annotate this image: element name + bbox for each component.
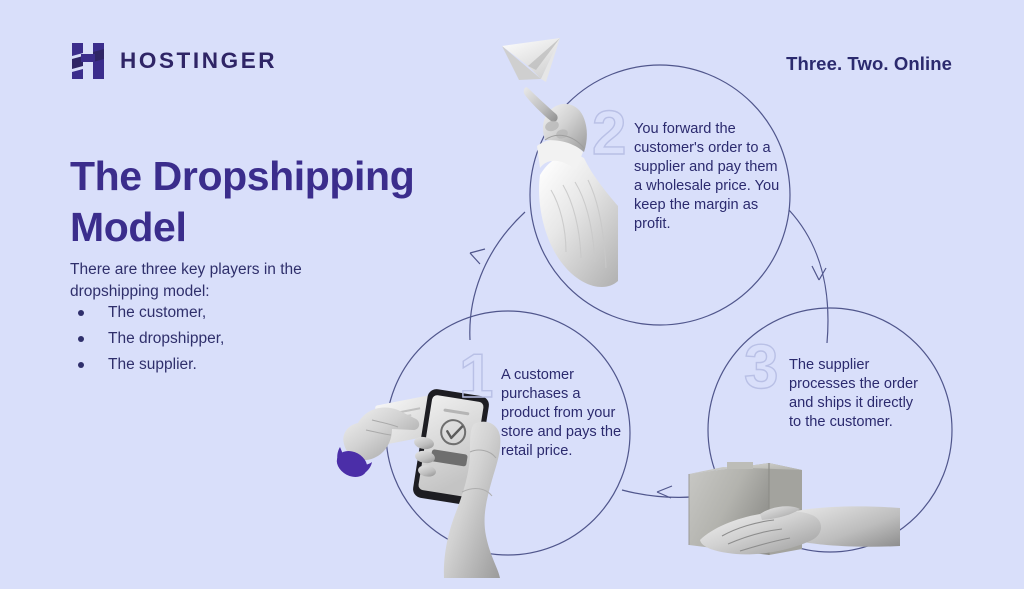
connector-3-to-1 bbox=[622, 489, 734, 497]
list-item: The supplier. bbox=[70, 352, 350, 378]
shipping-box-illustration bbox=[689, 462, 802, 555]
list-item: The dropshipper, bbox=[70, 326, 350, 352]
key-players-list: The customer, The dropshipper, The suppl… bbox=[70, 300, 350, 378]
connector-1-to-2 bbox=[470, 212, 525, 340]
infographic-canvas: HOSTINGER Three. Two. Online The Dropshi… bbox=[0, 0, 1024, 589]
intro-paragraph: There are three key players in the drops… bbox=[70, 259, 330, 305]
page-title: The Dropshipping Model bbox=[70, 151, 470, 252]
brand-logo: HOSTINGER bbox=[70, 41, 277, 81]
arrowhead-down bbox=[812, 266, 826, 280]
step-3-text: The supplier processes the order and shi… bbox=[789, 356, 929, 432]
step-3-numeral: 3 bbox=[744, 337, 778, 399]
list-item: The customer, bbox=[70, 300, 350, 326]
step-1-numeral: 1 bbox=[459, 346, 493, 408]
arrowhead-left bbox=[657, 486, 672, 498]
brand-wordmark: HOSTINGER bbox=[120, 50, 277, 73]
step-2-text: You forward the customer's order to a su… bbox=[634, 120, 784, 234]
phone-in-hand-illustration bbox=[412, 388, 501, 578]
credit-card-hand-illustration bbox=[332, 393, 449, 482]
arrowhead-up bbox=[470, 249, 485, 264]
hostinger-h-mark-icon bbox=[70, 41, 106, 81]
step-1-text: A customer purchases a product from your… bbox=[501, 366, 626, 461]
brand-tagline: Three. Two. Online bbox=[786, 53, 952, 75]
step-2-numeral: 2 bbox=[592, 103, 626, 165]
supporting-hand-illustration bbox=[700, 506, 900, 554]
connector-2-to-3 bbox=[789, 210, 828, 343]
paper-airplane-illustration bbox=[502, 38, 560, 82]
